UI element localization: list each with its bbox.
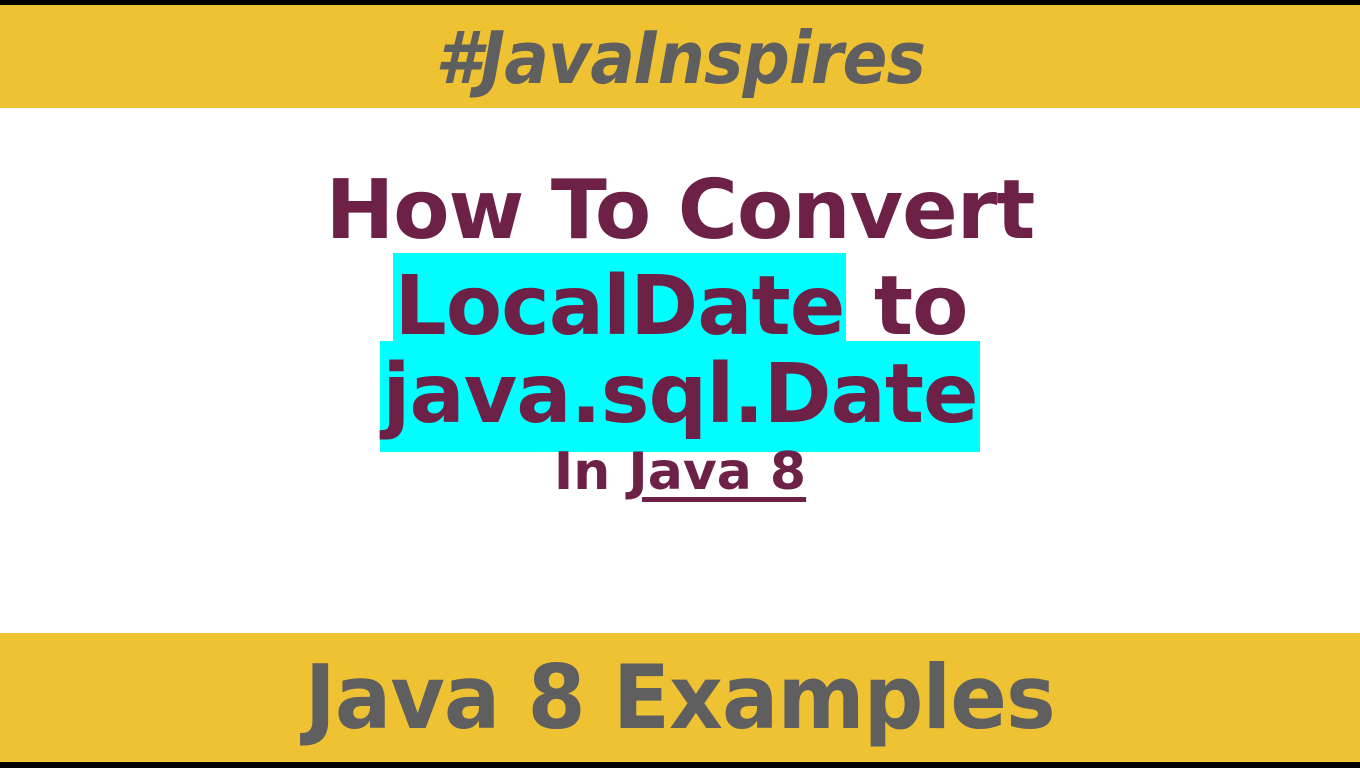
footer-title: Java 8 Examples (305, 654, 1055, 742)
title-line-3: java.sql.Date (380, 354, 979, 436)
title-line-1-text: How To Convert (326, 163, 1035, 258)
brand-title: #JavaInspires (435, 22, 925, 94)
top-edge-rule (0, 0, 1360, 5)
title-line-2: LocalDate to (393, 266, 968, 348)
bottom-edge-rule (0, 762, 1360, 768)
title-line-4: In Java 8 (554, 446, 806, 498)
title-line-4-prefix: In (554, 442, 628, 502)
main-content-area: How To Convert LocalDate to java.sql.Dat… (0, 108, 1360, 633)
title-line-4-underlined-text: Java 8 (628, 442, 806, 502)
footer-band: Java 8 Examples (0, 633, 1360, 762)
title-line-3-highlighted-text: java.sql.Date (380, 341, 979, 452)
header-band: #JavaInspires (0, 5, 1360, 108)
title-line-1: How To Convert (326, 170, 1035, 252)
title-line-2-plain-text: to (846, 259, 967, 354)
thumbnail-card: #JavaInspires How To Convert LocalDate t… (0, 0, 1360, 768)
